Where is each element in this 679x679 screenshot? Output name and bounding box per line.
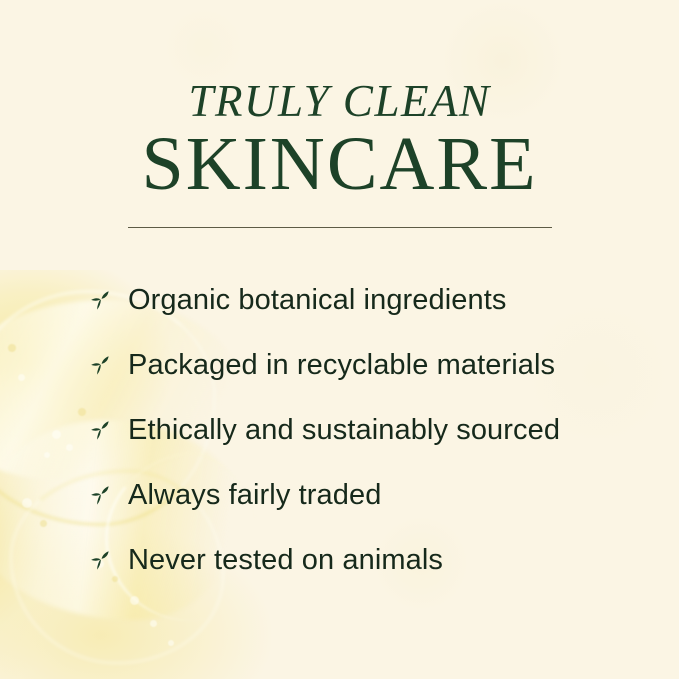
list-item: Always fairly traded xyxy=(88,463,648,528)
leaf-sprig-icon xyxy=(88,288,114,314)
list-item: Organic botanical ingredients xyxy=(88,268,648,333)
benefits-list: Organic botanical ingredients Packaged i… xyxy=(88,268,648,593)
leaf-sprig-icon xyxy=(88,548,114,574)
content-layer: TRULY CLEAN SKINCARE Organic botanical i… xyxy=(0,0,679,679)
list-item-label: Packaged in recyclable materials xyxy=(128,351,555,380)
list-item: Packaged in recyclable materials xyxy=(88,333,648,398)
list-item-label: Never tested on animals xyxy=(128,546,443,575)
list-item: Ethically and sustainably sourced xyxy=(88,398,648,463)
page-title: SKINCARE xyxy=(0,126,679,202)
list-item: Never tested on animals xyxy=(88,528,648,593)
list-item-label: Ethically and sustainably sourced xyxy=(128,416,560,445)
divider xyxy=(128,227,552,228)
leaf-sprig-icon xyxy=(88,418,114,444)
product-benefits-graphic: TRULY CLEAN SKINCARE Organic botanical i… xyxy=(0,0,679,679)
leaf-sprig-icon xyxy=(88,483,114,509)
leaf-sprig-icon xyxy=(88,353,114,379)
list-item-label: Organic botanical ingredients xyxy=(128,286,507,315)
eyebrow-heading: TRULY CLEAN xyxy=(0,79,679,124)
list-item-label: Always fairly traded xyxy=(128,481,381,510)
